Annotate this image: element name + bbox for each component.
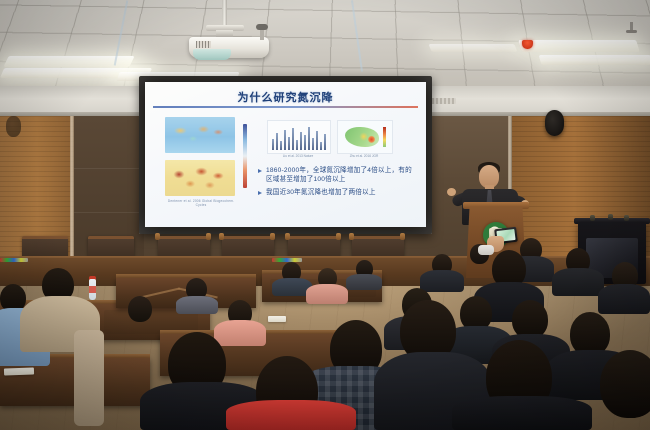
slide-bullet: 1860-2000年，全球氮沉降增加了4倍以上，有的区域甚至增加了100倍以上 [257,166,417,184]
ceiling-light-panel [428,44,517,52]
lecture-hall-photograph: 为什么研究氮沉降 Dentener et al. 2006 Global Bio… [0,0,650,430]
slide-bullet-list: 1860-2000年，全球氮沉降增加了4倍以上，有的区域甚至增加了100倍以上 … [257,166,417,201]
figure-citation-bars: Liu et al. 2013 Nature [267,154,329,158]
chair-knob [206,233,211,240]
ceiling-hook [260,28,264,40]
panel-seam [74,168,144,169]
audience-shoulders [420,270,464,292]
slide-bullet: 我国近30年氮沉降也增加了两倍以上 [257,188,417,197]
audience-shoulders [176,296,218,314]
wristwatch [478,245,494,255]
china-map-colorbar [383,127,386,147]
bar-chart-thumbnail [267,120,331,154]
fire-alarm-icon [522,40,533,49]
world-map-figure-bottom [165,160,235,196]
projection-screen: 为什么研究氮沉降 Dentener et al. 2006 Global Bio… [145,82,426,227]
chair-knob [219,233,224,240]
paper-notebook [4,367,34,375]
ceiling-light-panel [539,55,650,65]
map-colorbar [243,124,247,188]
world-map-figure-top [165,117,235,153]
wall-speaker-icon [545,110,564,136]
chair-knob [349,233,354,240]
audience-sleeve [74,330,104,426]
paper-notebook [268,316,286,322]
wall-trim [70,116,74,264]
slide-title-rule [153,106,418,108]
audience-shoulders [598,284,650,314]
projector-mount-pole [222,0,227,26]
wall-speaker-icon [6,116,21,137]
china-map-shape [345,127,379,147]
desk-cable-ports [0,258,28,262]
chair-knob [270,233,275,240]
figure-citation-china: Zhu et al. 2016 JGR [337,154,391,158]
av-knob [624,215,629,221]
desk-cable-ports [272,258,302,262]
chair-knob [400,233,405,240]
figure-citation-left: Dentener et al. 2006 Global Biogeochem. … [165,199,237,207]
audience-shoulders [306,284,348,304]
china-map-thumbnail [337,120,393,154]
presenter-hand-left [447,188,456,196]
audience-shoulders [214,320,266,346]
projector-lens [193,49,231,60]
audience-shoulders [346,274,382,290]
audience-shoulders [552,268,604,296]
ceiling-light-panel [518,40,640,52]
chair-knob [155,233,160,240]
projector-vent [196,41,211,48]
panel-seam [74,212,144,213]
audience-shoulders [452,396,592,430]
chair-knob [336,233,341,240]
audience-shoulders-red-shirt [226,400,356,430]
chair-knob [285,233,290,240]
audience-head [128,296,152,322]
av-knob [590,215,595,221]
av-knob [608,214,613,220]
audience-head [600,350,650,418]
sprinkler-head-icon [630,22,633,33]
water-bottle-label [89,286,96,293]
slide-title: 为什么研究氮沉降 [145,89,426,105]
